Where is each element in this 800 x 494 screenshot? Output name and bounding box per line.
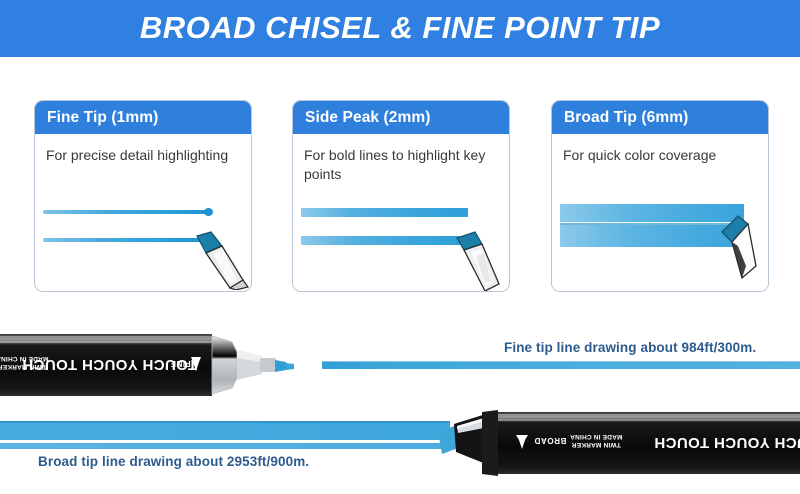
card-side-peak-description: For bold lines to highlight key points [304, 146, 500, 184]
stroke-end-blob [204, 208, 213, 216]
card-fine-tip-body: For precise detail highlighting [35, 134, 251, 291]
caption-broad-tip: Broad tip line drawing about 2953ft/900m… [38, 454, 309, 469]
card-broad-tip: Broad Tip (6mm) For quick color coverage [551, 100, 769, 292]
broad-nib-icon [712, 206, 769, 282]
card-broad-tip-body: For quick color coverage [552, 134, 768, 291]
fine-nib-icon [189, 228, 251, 290]
marker-broad-brand: TOUCH YOUCH TOUCH [654, 434, 800, 451]
card-fine-tip: Fine Tip (1mm) For precise detail highli… [34, 100, 252, 292]
side-peak-bar-lower [301, 236, 466, 245]
card-broad-tip-header: Broad Tip (6mm) [552, 101, 768, 134]
feature-cards: Fine Tip (1mm) For precise detail highli… [0, 100, 800, 296]
card-fine-tip-title: Fine Tip (1mm) [35, 109, 158, 127]
fine-stroke-sample [35, 200, 251, 260]
header-banner: BROAD CHISEL & FINE POINT TIP [0, 0, 800, 56]
fine-stroke-lower [43, 238, 208, 242]
marker-fine-sub1: TWIN MARKER [0, 362, 48, 370]
card-side-peak-title: Side Peak (2mm) [293, 109, 431, 127]
side-peak-stroke-sample [293, 200, 509, 260]
card-fine-tip-header: Fine Tip (1mm) [35, 101, 251, 134]
broad-ink-line [0, 423, 450, 440]
broad-ink-line-second [0, 443, 450, 449]
header-underline [0, 53, 800, 57]
marker-broad: TOUCH YOUCH TOUCH TWIN MARKER MADE IN CH… [424, 404, 800, 482]
card-side-peak-header: Side Peak (2mm) [293, 101, 509, 134]
caption-fine-tip: Fine tip line drawing about 984ft/300m. [504, 340, 756, 355]
broad-stroke-sample [552, 200, 768, 260]
infographic-page: BROAD CHISEL & FINE POINT TIP Fine Tip (… [0, 0, 800, 494]
fine-stroke-upper [43, 210, 210, 214]
marker-broad-subtext: TWIN MARKER MADE IN CHINA [570, 432, 622, 448]
card-fine-tip-description: For precise detail highlighting [46, 146, 242, 165]
marker-broad-sub1: TWIN MARKER [570, 440, 622, 448]
marker-broad-sub2: MADE IN CHINA [570, 432, 622, 440]
card-side-peak: Side Peak (2mm) For bold lines to highli… [292, 100, 510, 292]
page-title: BROAD CHISEL & FINE POINT TIP [0, 0, 800, 56]
side-peak-bar-upper [301, 208, 468, 217]
side-peak-nib-icon [451, 226, 510, 292]
marker-fine-sub2: MADE IN CHINA [0, 354, 48, 362]
marker-illustrations: TOUCH YOUCH TOUCH TWIN MARKER MADE IN CH… [0, 296, 800, 494]
marker-fine-subtext: TWIN MARKER MADE IN CHINA [0, 354, 48, 370]
fine-ink-line [322, 362, 800, 369]
card-broad-tip-title: Broad Tip (6mm) [552, 109, 688, 127]
broad-tip-badge-icon [512, 432, 532, 452]
marker-broad-tip-name: BROAD [534, 436, 566, 445]
fine-tip-badge-icon [187, 355, 205, 373]
card-side-peak-body: For bold lines to highlight key points [293, 134, 509, 291]
card-broad-tip-description: For quick color coverage [563, 146, 759, 165]
marker-fine: TOUCH YOUCH TOUCH TWIN MARKER MADE IN CH… [0, 328, 334, 400]
